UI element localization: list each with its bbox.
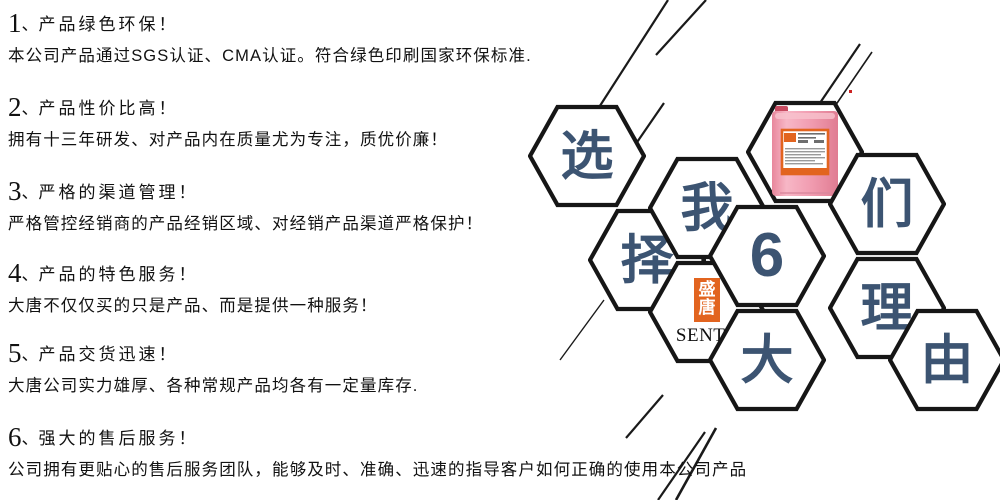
feature-item-2: 2、产品性价比高！ 拥有十三年研发、对产品内在质量尤为专注，质优价廉！ <box>8 94 448 149</box>
feature-number: 6 <box>8 422 22 452</box>
hex-cell-xuan[interactable]: 选 <box>528 104 646 208</box>
feature-separator: 、 <box>22 429 39 448</box>
feature-body: 严格管控经销商的产品经销区域、对经销产品渠道严格保护！ <box>8 216 483 233</box>
feature-heading: 3、严格的渠道管理！ <box>8 178 483 205</box>
hex-cell-you[interactable]: 由 <box>888 308 1000 412</box>
feature-item-5: 5、产品交货迅速！ 大唐公司实力雄厚、各种常规产品均各有一定量库存. <box>8 340 418 395</box>
feature-heading: 6、强大的售后服务！ <box>8 424 747 451</box>
feature-separator: 、 <box>22 345 39 364</box>
feature-title: 产品绿色环保！ <box>39 15 179 34</box>
feature-body: 大唐不仅仅买的只是产品、而是提供一种服务！ <box>8 298 378 315</box>
hex-cell-six[interactable]: 6 <box>708 204 826 308</box>
feature-heading: 1、产品绿色环保！ <box>8 10 532 37</box>
feature-separator: 、 <box>22 265 39 284</box>
feature-title: 产品的特色服务！ <box>39 265 199 284</box>
hex-label: 由 <box>888 308 1000 412</box>
feature-separator: 、 <box>22 183 39 202</box>
feature-body: 大唐公司实力雄厚、各种常规产品均各有一定量库存. <box>8 378 418 395</box>
feature-number: 4 <box>8 258 22 288</box>
feature-item-4: 4、产品的特色服务！ 大唐不仅仅买的只是产品、而是提供一种服务！ <box>8 260 378 315</box>
feature-number: 3 <box>8 176 22 206</box>
feature-item-3: 3、严格的渠道管理！ 严格管控经销商的产品经销区域、对经销产品渠道严格保护！ <box>8 178 483 233</box>
feature-item-6: 6、强大的售后服务！ 公司拥有更贴心的售后服务团队，能够及时、准确、迅速的指导客… <box>8 424 747 479</box>
feature-title: 强大的售后服务！ <box>39 429 199 448</box>
feature-number: 1 <box>8 8 22 38</box>
feature-number: 5 <box>8 338 22 368</box>
feature-heading: 5、产品交货迅速！ <box>8 340 418 367</box>
hex-label: 大 <box>708 308 826 412</box>
feature-title: 严格的渠道管理！ <box>39 183 199 202</box>
hex-cell-men[interactable]: 们 <box>828 152 946 256</box>
hex-cell-da[interactable]: 大 <box>708 308 826 412</box>
hex-label: 6 <box>708 204 826 308</box>
hex-label: 选 <box>528 104 646 208</box>
feature-separator: 、 <box>22 15 39 34</box>
feature-body: 拥有十三年研发、对产品内在质量尤为专注，质优价廉！ <box>8 132 448 149</box>
feature-title: 产品交货迅速！ <box>39 345 179 364</box>
feature-separator: 、 <box>22 99 39 118</box>
feature-body: 本公司产品通过SGS认证、CMA认证。符合绿色印刷国家环保标准. <box>8 48 532 65</box>
red-dot-marker <box>849 90 852 93</box>
hex-label: 们 <box>828 152 946 256</box>
feature-title: 产品性价比高！ <box>39 99 179 118</box>
poster-canvas: 1、产品绿色环保！ 本公司产品通过SGS认证、CMA认证。符合绿色印刷国家环保标… <box>0 0 1000 500</box>
feature-body: 公司拥有更贴心的售后服务团队，能够及时、准确、迅速的指导客户如何正确的使用本公司… <box>8 462 747 479</box>
feature-item-1: 1、产品绿色环保！ 本公司产品通过SGS认证、CMA认证。符合绿色印刷国家环保标… <box>8 10 532 65</box>
feature-heading: 4、产品的特色服务！ <box>8 260 378 287</box>
feature-heading: 2、产品性价比高！ <box>8 94 448 121</box>
feature-number: 2 <box>8 92 22 122</box>
